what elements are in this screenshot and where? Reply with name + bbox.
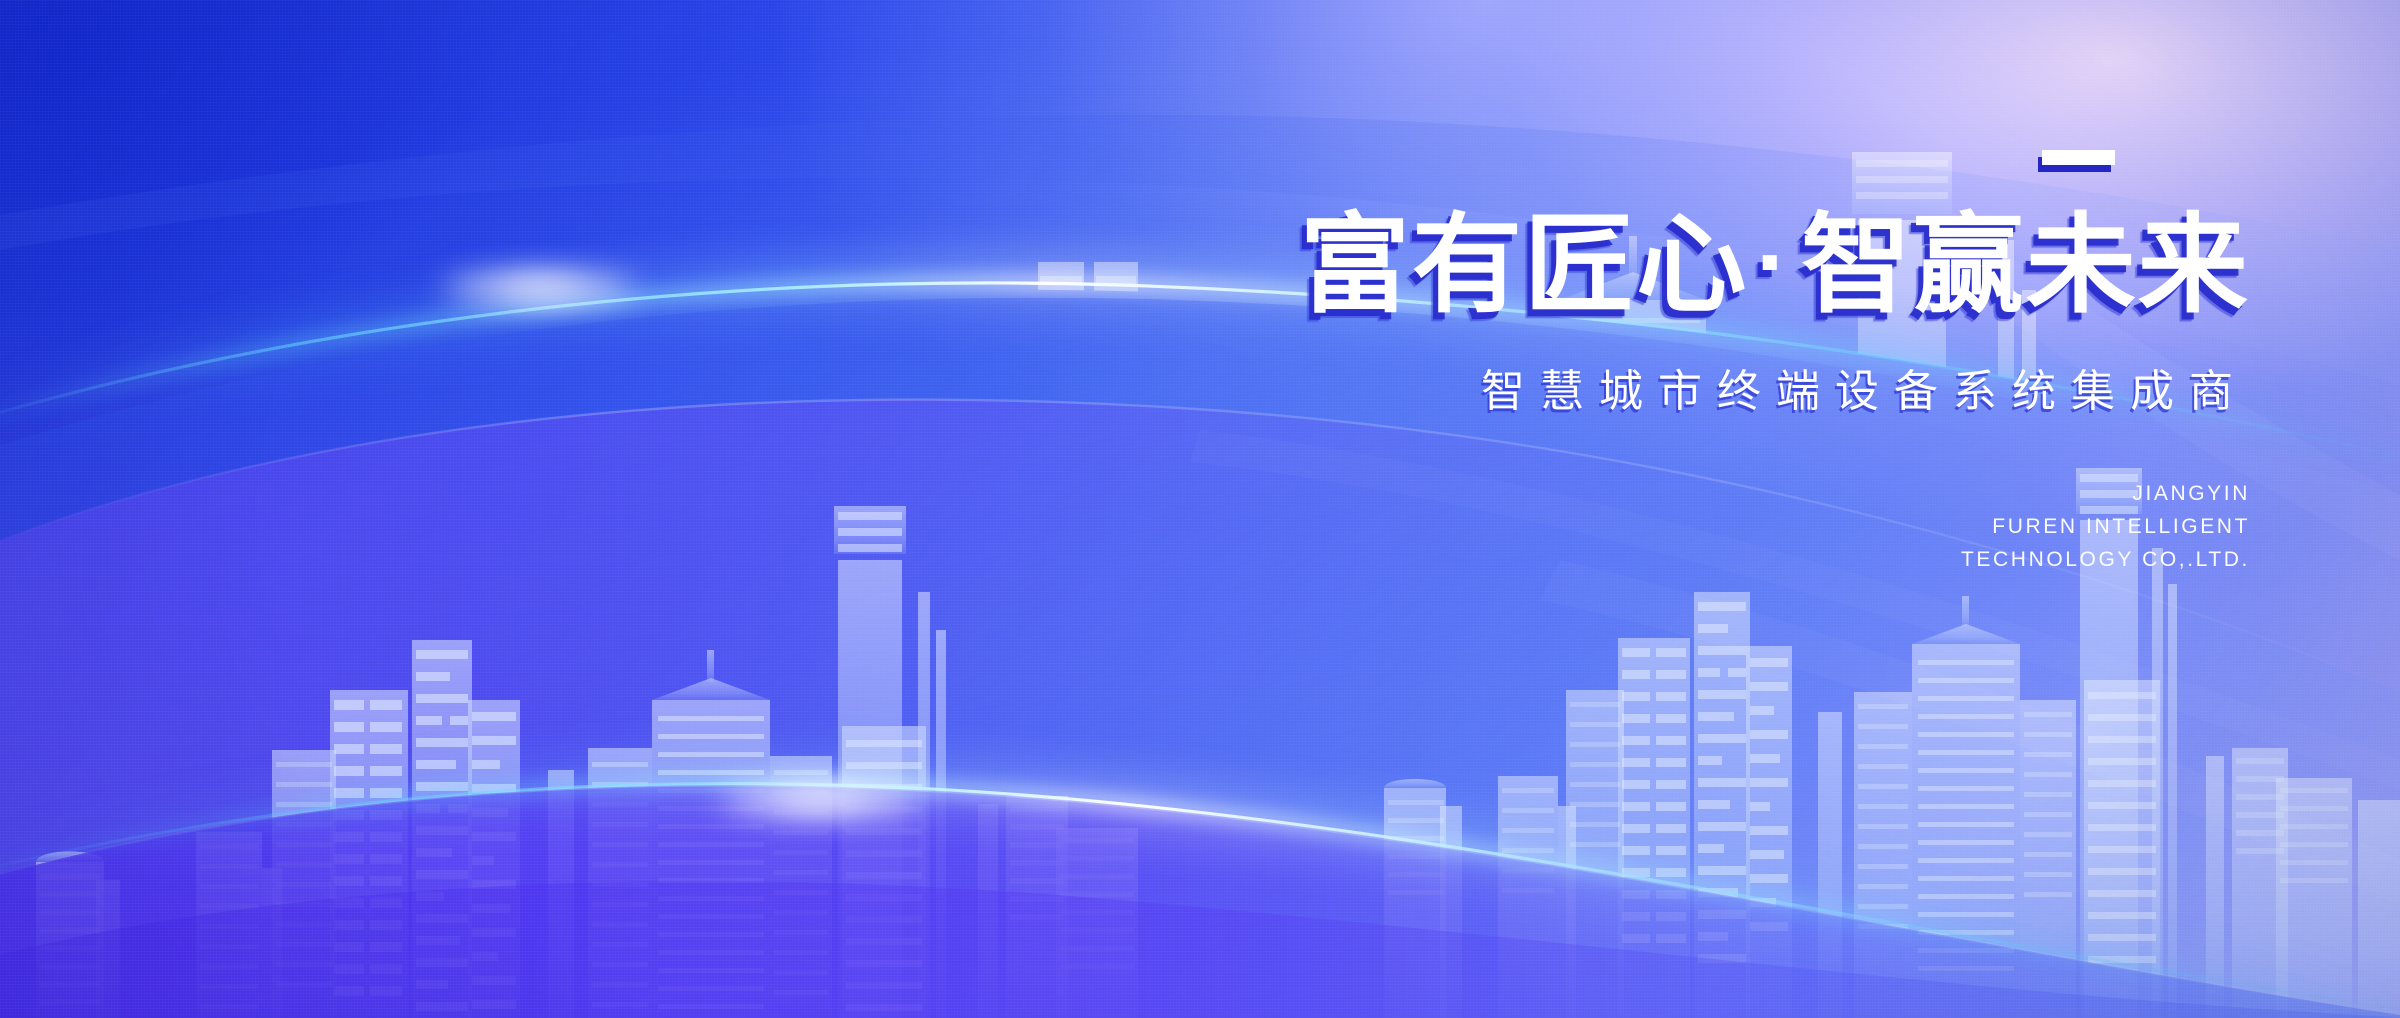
- headline-separator: ·: [1749, 219, 1802, 309]
- headline-part-1: 富有匠心: [1300, 203, 1749, 328]
- headline-part-2: 智赢未来: [1801, 203, 2250, 328]
- company-name-line-2: FUREN INTELLIGENT: [1040, 510, 2250, 543]
- banner-root: 富有匠心·智赢未来 智慧城市终端设备系统集成商 JIANGYIN FUREN I…: [0, 0, 2400, 1018]
- hero-text-block: 富有匠心·智赢未来 智慧城市终端设备系统集成商 JIANGYIN FUREN I…: [1040, 150, 2250, 576]
- company-name-line-1: JIANGYIN: [1040, 477, 2250, 510]
- page-subtitle: 智慧城市终端设备系统集成商: [1040, 355, 2250, 419]
- company-name: JIANGYIN FUREN INTELLIGENT TECHNOLOGY CO…: [1040, 477, 2250, 577]
- company-name-line-3: TECHNOLOGY CO,.LTD.: [1040, 543, 2250, 576]
- page-title: 富有匠心·智赢未来: [1016, 208, 2250, 325]
- accent-rule-icon: [2042, 150, 2115, 165]
